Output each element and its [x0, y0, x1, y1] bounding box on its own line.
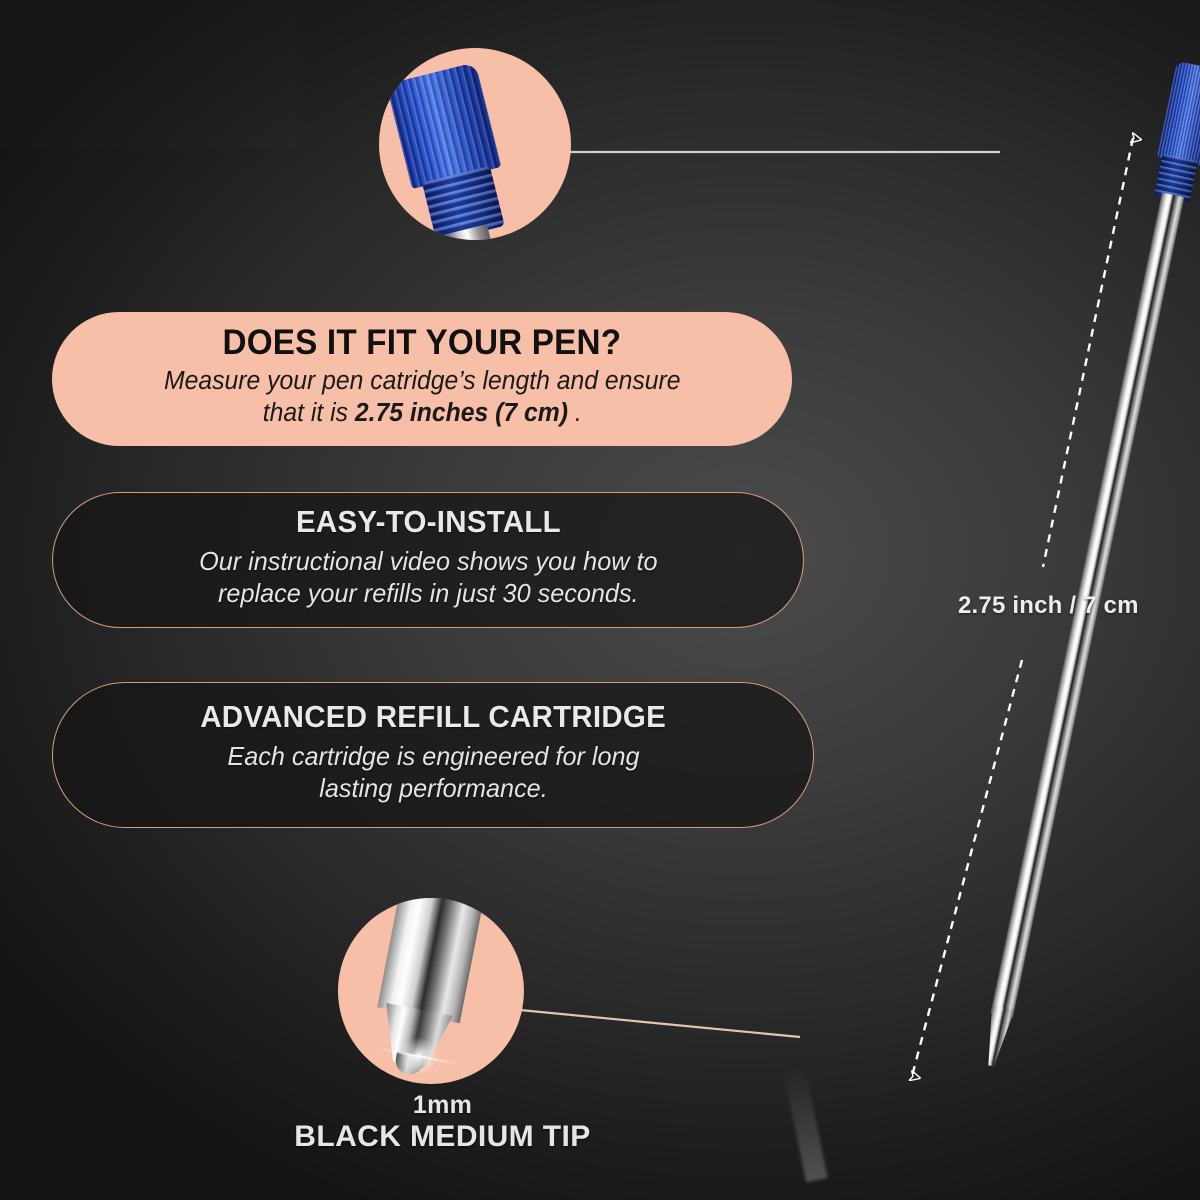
- measurement-label: 2.75 inch / 7 cm: [958, 592, 1139, 620]
- card-cartridge-body-line1: Each cartridge is engineered for long: [227, 740, 639, 773]
- pen-refill-illustration: [770, 44, 1040, 1064]
- pen-blue-cap: [1157, 61, 1200, 166]
- card-cartridge-title: ADVANCED REFILL CARTRIDGE: [200, 701, 666, 734]
- card-fit-body-line2: that it is 2.75 inches (7 cm) .: [164, 398, 681, 430]
- background-texture: [0, 0, 300, 150]
- card-install-body-line2: replace your refills in just 30 seconds.: [199, 577, 657, 610]
- feature-card-fit: DOES IT FIT YOUR PEN? Measure your pen c…: [52, 312, 792, 446]
- pen-surface-reflection: [770, 1060, 890, 1180]
- tip-size-label: 1mm: [255, 1092, 630, 1118]
- card-fit-body-suffix: .: [575, 399, 582, 427]
- card-fit-body-line1: Measure your pen catridge’s length and e…: [164, 366, 681, 398]
- feature-card-install: EASY-TO-INSTALL Our instructional video …: [52, 492, 804, 628]
- tip-connector-line: [520, 1010, 800, 1037]
- card-fit-measurement-emphasis: 2.75 inches (7 cm): [355, 399, 575, 427]
- pen-tip-taper: [980, 1005, 1015, 1068]
- card-cartridge-body-line2: lasting performance.: [227, 772, 639, 805]
- tip-caption: 1mm BLACK MEDIUM TIP: [255, 1092, 630, 1154]
- card-cartridge-body: Each cartridge is engineered for long la…: [227, 740, 639, 806]
- tip-ball-point: [393, 1052, 424, 1077]
- card-fit-body: Measure your pen catridge’s length and e…: [164, 366, 681, 429]
- card-fit-title: DOES IT FIT YOUR PEN?: [223, 325, 622, 362]
- cap-callout-circle: [379, 48, 571, 240]
- card-fit-body-prefix: that it is: [263, 399, 355, 427]
- magnified-pen-tip: [367, 898, 485, 1075]
- pen-body: [968, 61, 1200, 1069]
- feature-card-cartridge: ADVANCED REFILL CARTRIDGE Each cartridge…: [52, 682, 814, 828]
- card-install-body-line1: Our instructional video shows you how to: [199, 545, 657, 578]
- product-infographic: 2.75 inch / 7 cm DOES IT FIT YOUR PEN? M…: [0, 0, 1200, 1200]
- tip-callout-circle: [338, 898, 524, 1084]
- card-install-body: Our instructional video shows you how to…: [199, 545, 657, 611]
- tip-description-label: BLACK MEDIUM TIP: [255, 1120, 630, 1154]
- magnified-blue-cap: [386, 62, 518, 240]
- card-install-title: EASY-TO-INSTALL: [296, 506, 561, 539]
